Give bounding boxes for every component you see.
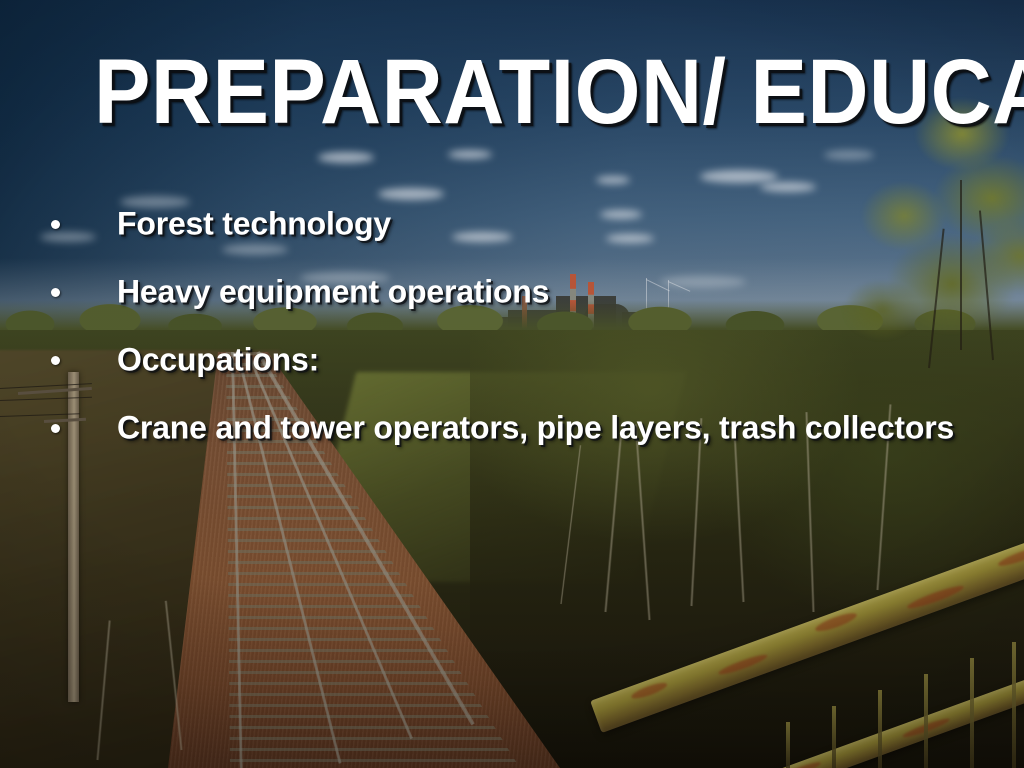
bullet-dot-icon <box>51 220 60 229</box>
bullet-dot-icon <box>51 424 60 433</box>
list-item: Heavy equipment operations <box>0 258 1024 326</box>
list-item: Crane and tower operators, pipe layers, … <box>0 394 1024 462</box>
list-item: Forest technology <box>0 190 1024 258</box>
bullet-text: Forest technology <box>117 205 391 241</box>
bullet-text: Occupations: <box>117 341 319 377</box>
bullet-dot-icon <box>51 288 60 297</box>
bullet-text: Crane and tower operators, pipe layers, … <box>117 409 954 445</box>
bullet-list: Forest technology Heavy equipment operat… <box>0 190 1024 462</box>
bullet-dot-icon <box>51 356 60 365</box>
slide-content: Preparation/ Education Forest technology… <box>0 0 1024 768</box>
slide-title: Preparation/ Education <box>94 46 904 138</box>
presentation-slide: Preparation/ Education Forest technology… <box>0 0 1024 768</box>
list-item: Occupations: <box>0 326 1024 394</box>
bullet-text: Heavy equipment operations <box>117 273 549 309</box>
